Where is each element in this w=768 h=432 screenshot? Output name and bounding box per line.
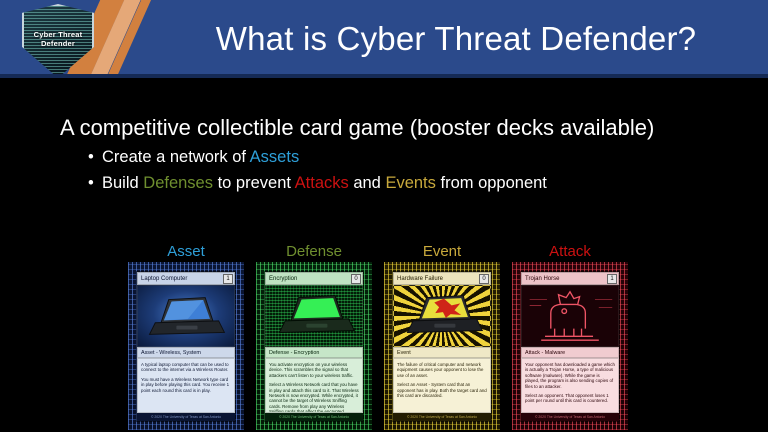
logo-line-1: Cyber Threat bbox=[22, 30, 94, 39]
card-text-2-event: Select an Asset - System card that an op… bbox=[397, 382, 487, 398]
card-cost-badge-asset: 1 bbox=[223, 274, 233, 284]
card-titlebar: Trojan Horse 1 bbox=[521, 272, 619, 285]
bullet-2-defense-word: Defenses bbox=[143, 174, 213, 192]
bullet-2-p3: and bbox=[349, 174, 386, 192]
card-art-event bbox=[393, 285, 491, 347]
laptop-icon bbox=[138, 286, 234, 346]
bullet-dot-icon-2: • bbox=[88, 171, 102, 195]
bullet-2-p1: Build bbox=[102, 174, 143, 192]
slide-header: Cyber Threat Defender What is Cyber Thre… bbox=[0, 0, 768, 78]
card-inner-defense: Encryption 0 Defense - Encryption Yo bbox=[264, 271, 364, 422]
card-slot-asset: Asset Laptop Computer 1 bbox=[128, 243, 244, 430]
bullet-2-p2: to prevent bbox=[213, 174, 295, 192]
card-title-event: Hardware Failure bbox=[397, 275, 479, 283]
card-category-label-attack: Attack bbox=[512, 243, 628, 262]
card-footer-event: © 2020 The University of Texas at San An… bbox=[393, 413, 491, 421]
card-title-asset: Laptop Computer bbox=[141, 275, 223, 283]
card-text-1-defense: You activate encryption on your wireless… bbox=[269, 362, 359, 378]
card-art-asset bbox=[137, 285, 235, 347]
card-text-1-event: The failure of critical computer and net… bbox=[397, 362, 487, 378]
bullet-1-prefix: Create a network of bbox=[102, 148, 250, 166]
encrypted-laptop-icon bbox=[266, 286, 362, 346]
broken-laptop-icon bbox=[394, 286, 490, 346]
trojan-horse-icon bbox=[522, 286, 618, 346]
card-slot-event: Event Hardware Failure 0 bbox=[384, 243, 500, 430]
card-footer-defense: © 2020 The University of Texas at San An… bbox=[265, 413, 363, 421]
card-attack[interactable]: Trojan Horse 1 bbox=[512, 262, 628, 430]
card-titlebar: Laptop Computer 1 bbox=[137, 272, 235, 285]
card-body-event: The failure of critical computer and net… bbox=[393, 358, 491, 413]
card-category-label-defense: Defense bbox=[256, 243, 372, 262]
card-category-label-event: Event bbox=[384, 243, 500, 262]
card-cost-badge-attack: 1 bbox=[607, 274, 617, 284]
card-inner-event: Hardware Failure 0 Event bbox=[392, 271, 492, 422]
bullet-1-asset-word: Assets bbox=[250, 148, 300, 166]
card-title-attack: Trojan Horse bbox=[525, 275, 607, 283]
card-slot-defense: Defense Encryption 0 bbox=[256, 243, 372, 430]
card-footer-attack: © 2020 The University of Texas at San An… bbox=[521, 413, 619, 421]
header-underline bbox=[0, 74, 768, 78]
card-inner-asset: Laptop Computer 1 Asset - Wireless, Syst… bbox=[136, 271, 236, 422]
card-cost-badge-defense: 0 bbox=[351, 274, 361, 284]
card-text-1-attack: Your opponent has downloaded a game whic… bbox=[525, 362, 615, 389]
bullet-2-event-word: Events bbox=[385, 174, 435, 192]
card-body-asset: A typical laptop computer that can be us… bbox=[137, 358, 235, 413]
card-footer-asset: © 2020 The University of Texas at San An… bbox=[137, 413, 235, 421]
card-text-2-attack: Select an opponent. That opponent loses … bbox=[525, 393, 615, 404]
bullet-item-2: •Build Defenses to prevent Attacks and E… bbox=[88, 171, 547, 195]
card-text-2-asset: You must have a Wireless Network type ca… bbox=[141, 377, 231, 393]
card-asset[interactable]: Laptop Computer 1 Asset - Wireless, Syst… bbox=[128, 262, 244, 430]
card-body-defense: You activate encryption on your wireless… bbox=[265, 358, 363, 413]
card-type-line-asset: Asset - Wireless, System bbox=[137, 347, 235, 358]
page-title: What is Cyber Threat Defender? bbox=[176, 18, 736, 60]
card-type-line-event: Event bbox=[393, 347, 491, 358]
lead-text: A competitive collectible card game (boo… bbox=[60, 113, 654, 143]
bullet-list: •Create a network of Assets •Build Defen… bbox=[88, 145, 547, 197]
card-text-1-asset: A typical laptop computer that can be us… bbox=[141, 362, 231, 373]
card-titlebar: Hardware Failure 0 bbox=[393, 272, 491, 285]
card-category-label-asset: Asset bbox=[128, 243, 244, 262]
cyber-threat-defender-logo: Cyber Threat Defender bbox=[22, 4, 94, 78]
card-type-line-attack: Attack - Malware bbox=[521, 347, 619, 358]
slide: Cyber Threat Defender What is Cyber Thre… bbox=[0, 0, 768, 432]
card-art-attack bbox=[521, 285, 619, 347]
logo-text: Cyber Threat Defender bbox=[22, 30, 94, 48]
card-cost-badge-event: 0 bbox=[479, 274, 489, 284]
card-defense[interactable]: Encryption 0 Defense - Encryption Yo bbox=[256, 262, 372, 430]
bullet-item-1: •Create a network of Assets bbox=[88, 145, 547, 169]
bullet-2-attack-word: Attacks bbox=[295, 174, 349, 192]
card-type-line-defense: Defense - Encryption bbox=[265, 347, 363, 358]
card-title-defense: Encryption bbox=[269, 275, 351, 283]
card-event[interactable]: Hardware Failure 0 Event bbox=[384, 262, 500, 430]
logo-line-2: Defender bbox=[22, 39, 94, 48]
card-slot-attack: Attack Trojan Horse 1 bbox=[512, 243, 628, 430]
bullet-2-p4: from opponent bbox=[436, 174, 547, 192]
bullet-dot-icon: • bbox=[88, 145, 102, 169]
card-body-attack: Your opponent has downloaded a game whic… bbox=[521, 358, 619, 413]
card-art-defense bbox=[265, 285, 363, 347]
card-titlebar: Encryption 0 bbox=[265, 272, 363, 285]
card-text-2-defense: Select a Wireless Network card that you … bbox=[269, 382, 359, 413]
card-inner-attack: Trojan Horse 1 bbox=[520, 271, 620, 422]
